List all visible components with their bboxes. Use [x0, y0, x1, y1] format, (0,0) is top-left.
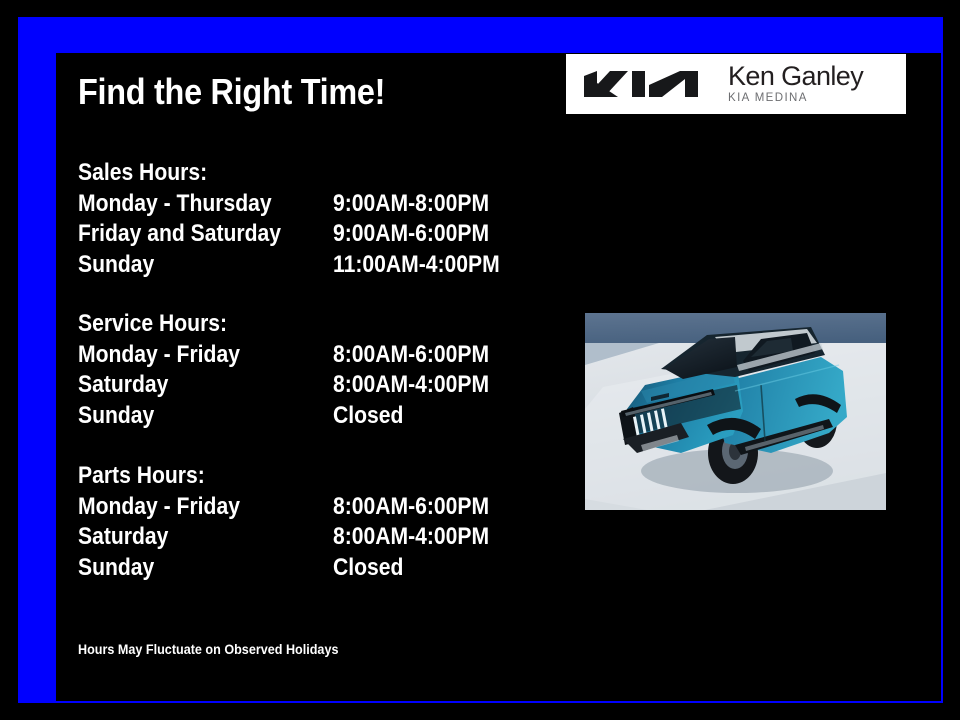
- hours-time-value: 11:00AM-4:00PM: [333, 250, 500, 281]
- hours-day-label: Sunday: [78, 250, 154, 281]
- hours-time-value: Closed: [333, 401, 403, 432]
- dealer-name-group: Ken Ganley KIA MEDINA: [728, 63, 863, 105]
- kia-logomark-icon: [582, 68, 702, 100]
- dealer-subtitle: KIA MEDINA: [728, 93, 863, 105]
- hours-time-value: Closed: [333, 553, 403, 584]
- hours-time-value: 8:00AM-4:00PM: [333, 522, 489, 553]
- hours-row: Sunday Closed: [78, 553, 222, 584]
- hours-heading-parts: Parts Hours:: [78, 461, 205, 492]
- hours-heading-sales: Sales Hours:: [78, 158, 207, 189]
- dealer-logo-panel: Ken Ganley KIA MEDINA: [566, 54, 906, 114]
- hours-block-parts: Parts Hours: Monday - Friday 8:00AM-6:00…: [78, 461, 222, 583]
- hours-row: Friday and Saturday 9:00AM-6:00PM: [78, 219, 225, 250]
- dealer-name: Ken Ganley: [728, 63, 863, 90]
- hours-time-value: 8:00AM-6:00PM: [333, 492, 489, 523]
- hours-row: Sunday Closed: [78, 401, 247, 432]
- hours-row: Sunday 11:00AM-4:00PM: [78, 250, 225, 281]
- hours-block-sales: Sales Hours: Monday - Thursday 9:00AM-8:…: [78, 158, 225, 280]
- hours-block-service: Service Hours: Monday - Friday 8:00AM-6:…: [78, 309, 247, 431]
- hours-time-value: 8:00AM-6:00PM: [333, 340, 489, 371]
- hours-day-label: Monday - Friday: [78, 492, 240, 523]
- page-title: Find the Right Time!: [78, 74, 385, 110]
- slide-canvas: Find the Right Time! Sales Hours: Monday…: [0, 0, 960, 720]
- hours-row: Saturday 8:00AM-4:00PM: [78, 370, 247, 401]
- hours-row: Monday - Thursday 9:00AM-8:00PM: [78, 189, 225, 220]
- hours-row: Monday - Friday 8:00AM-6:00PM: [78, 492, 222, 523]
- hours-day-label: Friday and Saturday: [78, 219, 281, 250]
- hours-time-value: 8:00AM-4:00PM: [333, 370, 489, 401]
- hours-time-value: 9:00AM-8:00PM: [333, 189, 489, 220]
- hours-day-label: Saturday: [78, 370, 168, 401]
- holiday-disclaimer: Hours May Fluctuate on Observed Holidays: [78, 641, 338, 657]
- hours-row: Saturday 8:00AM-4:00PM: [78, 522, 222, 553]
- hours-day-label: Saturday: [78, 522, 168, 553]
- hours-day-label: Monday - Thursday: [78, 189, 272, 220]
- hours-day-label: Monday - Friday: [78, 340, 240, 371]
- hours-row: Monday - Friday 8:00AM-6:00PM: [78, 340, 247, 371]
- hours-day-label: Sunday: [78, 553, 154, 584]
- vehicle-photo: [585, 313, 886, 510]
- hours-day-label: Sunday: [78, 401, 154, 432]
- hours-heading-service: Service Hours:: [78, 309, 227, 340]
- hours-time-value: 9:00AM-6:00PM: [333, 219, 489, 250]
